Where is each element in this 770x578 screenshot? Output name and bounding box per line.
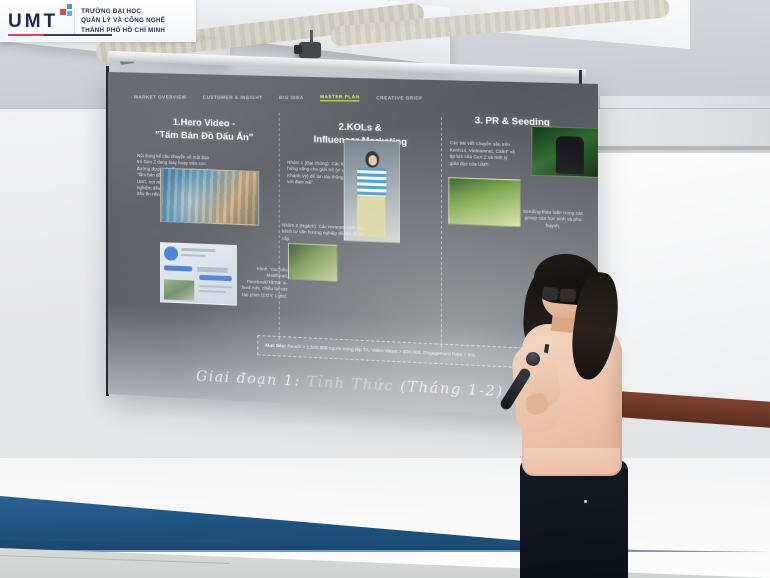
- umt-logo-mark: UMT: [8, 12, 68, 31]
- banner-text-block: TRƯỜNG ĐẠI HỌC QUẢN LÝ VÀ CÔNG NGHỆ THÀN…: [81, 7, 165, 35]
- logo-square-blue-icon: [67, 4, 72, 9]
- column-3-body: Các bài viết chuyên sâu trên Kenh14, Vie…: [450, 141, 517, 170]
- nav-item-customer-insight[interactable]: CUSTOMER & INSIGHT: [203, 95, 263, 100]
- kol-event-photo: [288, 243, 338, 282]
- banner-line-2: QUẢN LÝ VÀ CÔNG NGHỆ: [81, 16, 165, 25]
- presenter: [498, 248, 648, 578]
- logo-divider: [74, 8, 75, 34]
- facebook-page-screenshot: [160, 242, 237, 306]
- goal-text: Reach > 1,500,000 người trong tệp TA, Vi…: [287, 344, 476, 358]
- banner-line-1: TRƯỜNG ĐẠI HỌC: [81, 7, 165, 16]
- screenshot-root: MARKET OVERVIEW CUSTOMER & INSIGHT BIG I…: [0, 0, 770, 578]
- column-3-seeding: Seeding thảo luận trong các group của họ…: [521, 209, 585, 231]
- nav-item-big-idea[interactable]: BIG IDEA: [279, 95, 304, 100]
- seeding-photo: [449, 177, 521, 227]
- slide-section-nav: MARKET OVERVIEW CUSTOMER & INSIGHT BIG I…: [134, 93, 570, 102]
- phase-name: Tỉnh Thức: [307, 374, 394, 395]
- phase-prefix: Giai đoạn 1:: [196, 368, 301, 390]
- skirt-button: [584, 500, 587, 503]
- goal-label: Mục tiêu:: [265, 343, 286, 349]
- presenter-skirt: [520, 460, 628, 578]
- nav-item-creative-brief[interactable]: CREATIVE BRIEF: [376, 95, 422, 100]
- column-2-group2: Nhóm 2 (Ngách): Các reviewer sinh viên, …: [282, 222, 372, 245]
- umt-logo-text: UMT: [8, 12, 58, 31]
- hero-video-crowd: [161, 169, 258, 225]
- logo-square-lightblue-icon: [67, 11, 72, 16]
- glasses-icon: [542, 287, 577, 301]
- logo-underline: [8, 34, 112, 36]
- column-1-title-line2: "Tấm Bản Đồ Dấu Ấn": [137, 128, 272, 145]
- umt-logo-banner: UMT TRƯỜNG ĐẠI HỌC QUẢN LÝ VÀ CÔNG NGHỆ …: [0, 0, 196, 42]
- logo-square-red-icon: [60, 9, 66, 15]
- nav-item-master-plan[interactable]: MASTER PLAN: [320, 94, 360, 101]
- column-hero-video: 1.Hero Video - "Tấm Bản Đồ Dấu Ấn" Nội d…: [130, 109, 279, 340]
- presenter-blouse-hem: [524, 448, 620, 474]
- phase-period: (Tháng 1-2): [400, 379, 504, 401]
- projector: [299, 42, 321, 58]
- pr-article-photo: [532, 126, 598, 178]
- hero-video-thumbnail: [160, 168, 259, 226]
- column-kols-influencer: 2.KOLs & Influencer Marketing Nhóm 1 (Đạ…: [279, 113, 442, 348]
- nav-item-market-overview[interactable]: MARKET OVERVIEW: [134, 94, 187, 99]
